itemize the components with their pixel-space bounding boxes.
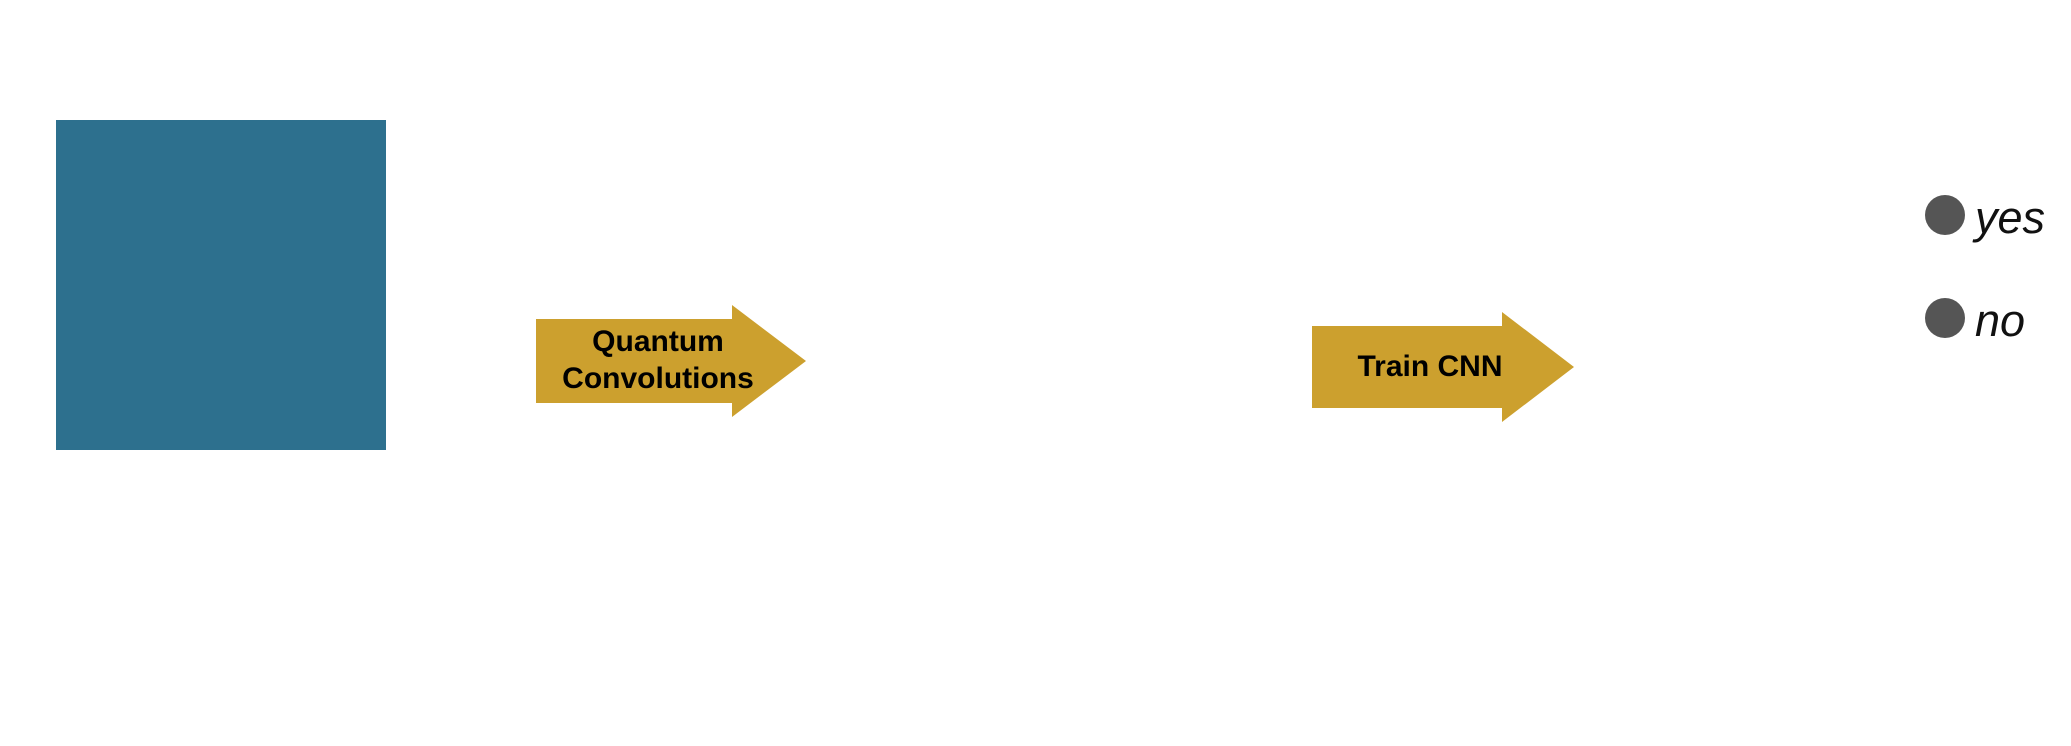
output-node-no[interactable] <box>1925 298 1965 338</box>
output-node-yes[interactable] <box>1925 195 1965 235</box>
arrow-quantum-label: Quantum Convolutions <box>562 324 780 397</box>
arrow-train-cnn[interactable]: Train CNN <box>1312 312 1574 422</box>
arrow-quantum-convolutions[interactable]: Quantum Convolutions <box>536 305 806 417</box>
cnn-classifier: yes no <box>1600 20 2060 540</box>
output-label-yes: yes <box>1975 192 2045 244</box>
quantum-feature-map-stack <box>838 125 1298 460</box>
network-edges <box>1600 20 2060 540</box>
output-label-no: no <box>1975 295 2025 347</box>
arrow-train-label: Train CNN <box>1357 349 1528 386</box>
input-ultrasound-sheet <box>56 120 386 450</box>
input-ultrasound-stack <box>56 120 526 460</box>
figure-canvas: Quantum Convolutions Train CNN yes no <box>0 0 2071 746</box>
